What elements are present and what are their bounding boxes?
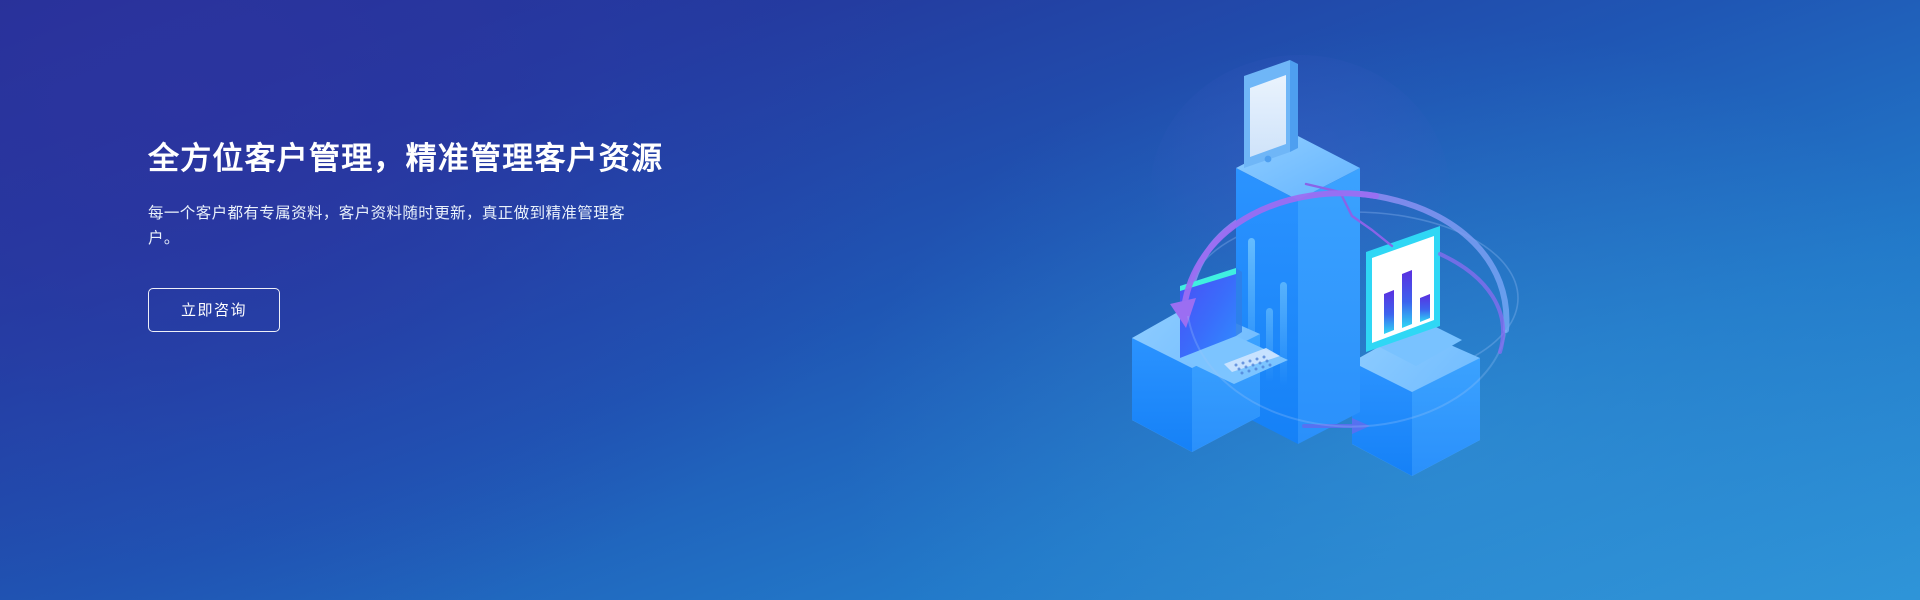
pedestal-deco-bar-2 xyxy=(1266,308,1273,382)
chart-bar-3 xyxy=(1420,294,1430,322)
pedestal-deco-bar-3 xyxy=(1280,282,1287,386)
hero-subtitle: 每一个客户都有专属资料，客户资料随时更新，真正做到精准管理客户。 xyxy=(148,201,633,252)
page-title: 全方位客户管理，精准管理客户资源 xyxy=(148,140,768,179)
hero-banner: 全方位客户管理，精准管理客户资源 每一个客户都有专属资料，客户资料随时更新，真正… xyxy=(0,0,1920,600)
hero-illustration xyxy=(1140,40,1560,460)
laptop-screen-side xyxy=(1236,268,1242,336)
tablet-screen xyxy=(1250,75,1286,157)
hero-copy-block: 全方位客户管理，精准管理客户资源 每一个客户都有专属资料，客户资料随时更新，真正… xyxy=(148,140,768,332)
chart-bar-2 xyxy=(1402,270,1412,328)
tablet-body-side xyxy=(1290,60,1298,152)
chart-screen xyxy=(1366,226,1462,366)
chart-bar-1 xyxy=(1384,290,1394,334)
consult-now-button[interactable]: 立即咨询 xyxy=(148,288,280,332)
tablet xyxy=(1244,60,1298,168)
tablet-home-button xyxy=(1265,156,1272,163)
